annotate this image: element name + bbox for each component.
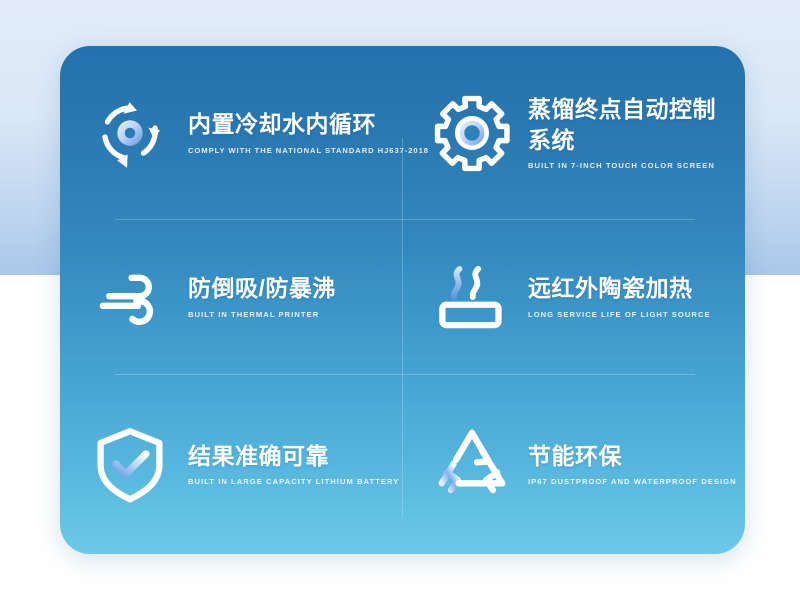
feature-subtitle: LONG SERVICE LIFE OF LIGHT SOURCE (528, 310, 731, 320)
feature-item-auto-control[interactable]: 蒸馏终点自动控制系统 BUILT IN 7-INCH TOUCH COLOR S… (402, 46, 745, 219)
feature-item-infrared-heating[interactable]: 远红外陶瓷加热 LONG SERVICE LIFE OF LIGHT SOURC… (402, 219, 745, 374)
heat-steam-icon (424, 249, 520, 345)
feature-text-block: 远红外陶瓷加热 LONG SERVICE LIFE OF LIGHT SOURC… (528, 273, 731, 319)
feature-title: 内置冷却水内循环 (188, 109, 388, 139)
page-root: 内置冷却水内循环 COMPLY WITH THE NATIONAL STANDA… (0, 0, 800, 603)
feature-subtitle: BUILT IN LARGE CAPACITY LITHIUM BATTERY (188, 477, 388, 487)
feature-item-anti-suckback[interactable]: 防倒吸/防暴沸 BUILT IN THERMAL PRINTER (60, 219, 402, 374)
feature-title: 蒸馏终点自动控制系统 (528, 94, 731, 155)
feature-subtitle: BUILT IN 7-INCH TOUCH COLOR SCREEN (528, 161, 731, 171)
recycle-icon (424, 416, 520, 512)
feature-text-block: 结果准确可靠 BUILT IN LARGE CAPACITY LITHIUM B… (188, 441, 388, 487)
wind-flow-icon (82, 249, 178, 345)
feature-text-block: 防倒吸/防暴沸 BUILT IN THERMAL PRINTER (188, 273, 388, 319)
feature-text-block: 节能环保 IP67 DUSTPROOF AND WATERPROOF DESIG… (528, 441, 731, 487)
feature-text-block: 内置冷却水内循环 COMPLY WITH THE NATIONAL STANDA… (188, 109, 388, 155)
feature-item-cooling-circulation[interactable]: 内置冷却水内循环 COMPLY WITH THE NATIONAL STANDA… (60, 46, 402, 219)
feature-subtitle: BUILT IN THERMAL PRINTER (188, 310, 388, 320)
feature-title: 防倒吸/防暴沸 (188, 273, 388, 303)
feature-grid: 内置冷却水内循环 COMPLY WITH THE NATIONAL STANDA… (60, 46, 745, 554)
shield-check-icon (82, 416, 178, 512)
feature-title: 远红外陶瓷加热 (528, 273, 731, 303)
gear-icon (424, 85, 520, 181)
feature-title: 结果准确可靠 (188, 441, 388, 471)
feature-card: 内置冷却水内循环 COMPLY WITH THE NATIONAL STANDA… (60, 46, 745, 554)
feature-subtitle: COMPLY WITH THE NATIONAL STANDARD HJ637-… (188, 146, 388, 156)
feature-title: 节能环保 (528, 441, 731, 471)
feature-subtitle: IP67 DUSTPROOF AND WATERPROOF DESIGN (528, 477, 731, 487)
feature-item-energy-saving[interactable]: 节能环保 IP67 DUSTPROOF AND WATERPROOF DESIG… (402, 374, 745, 554)
feature-item-reliable-results[interactable]: 结果准确可靠 BUILT IN LARGE CAPACITY LITHIUM B… (60, 374, 402, 554)
feature-text-block: 蒸馏终点自动控制系统 BUILT IN 7-INCH TOUCH COLOR S… (528, 94, 731, 171)
cycle-refresh-icon (82, 85, 178, 181)
